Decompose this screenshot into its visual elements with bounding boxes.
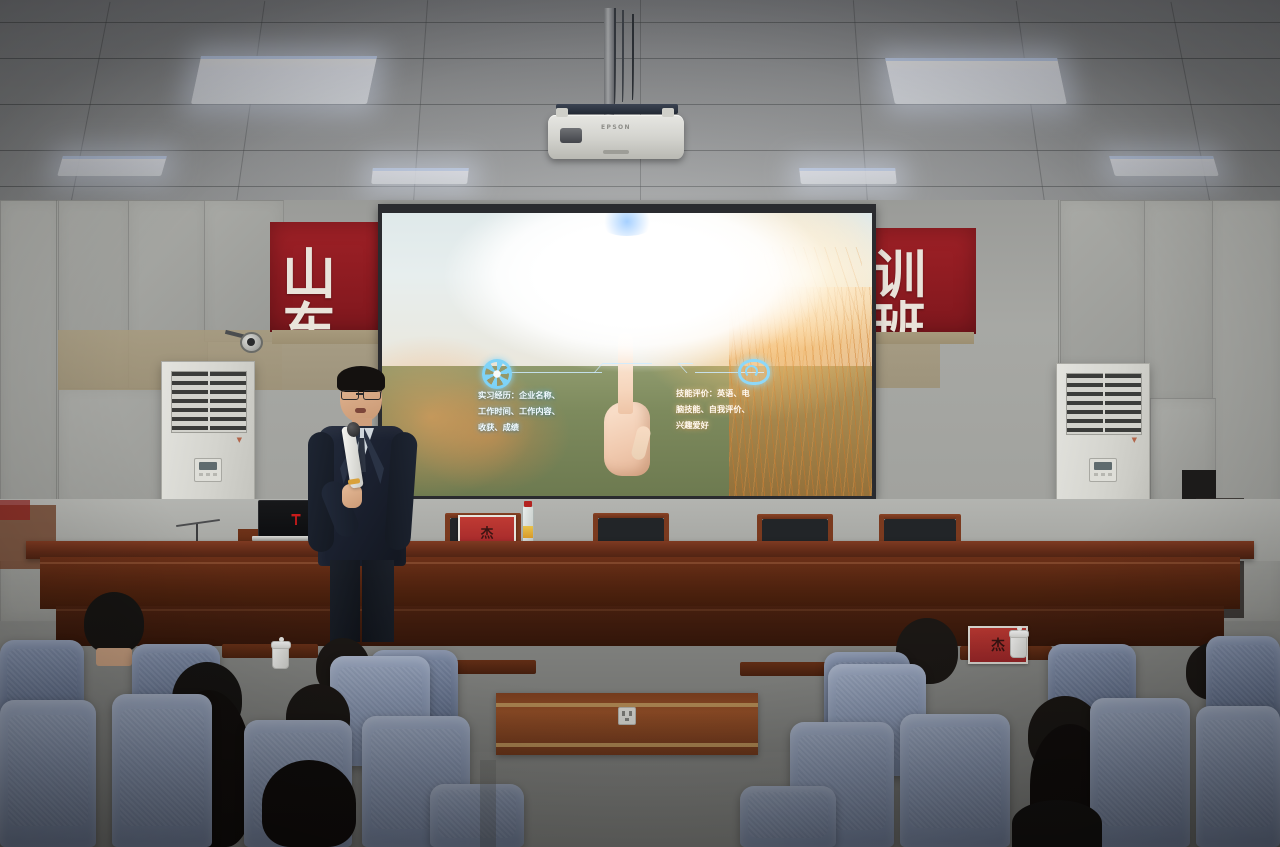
- projector-brand-label: EPSON: [601, 124, 631, 131]
- slide-text-skills: 技能评价：英语、电 脑技能、自我评价、 兴趣爱好: [676, 386, 774, 434]
- ceiling-projector: EPSON: [548, 115, 684, 159]
- camera-lens-icon: [247, 338, 255, 346]
- lecture-hall-photo: 山东 训班 EPSON: [0, 0, 1280, 847]
- nameplate-mark: 杰: [480, 523, 493, 542]
- head-table-lower: [56, 606, 1224, 646]
- cloud-icon: [738, 359, 770, 385]
- stage-chair: [757, 514, 833, 544]
- gear-icon: [482, 359, 512, 389]
- projector-lens: [560, 128, 582, 143]
- audience-seat[interactable]: [112, 694, 212, 847]
- slide-text-internship: 实习经历：企业名称、 工作时间、工作内容、 收获、成绩: [478, 388, 598, 436]
- audience-seat[interactable]: [0, 700, 96, 847]
- audience-desk: [222, 644, 318, 658]
- slide-connector-line: [695, 372, 739, 373]
- stage-chair: [879, 514, 961, 544]
- audience-desk: [452, 660, 536, 674]
- presenter: [300, 352, 422, 642]
- audience-seat[interactable]: [430, 784, 524, 847]
- projector-vent: [603, 150, 629, 154]
- red-welcome-banner: 山东: [270, 222, 386, 332]
- banner-text-left: 山东: [282, 248, 386, 332]
- security-camera: [240, 332, 263, 353]
- projector-mount-plate: [556, 104, 678, 114]
- ac-control-panel[interactable]: [1089, 458, 1117, 482]
- nameplate-mark: 杰: [991, 635, 1005, 655]
- banner-text-right: 训班: [874, 250, 976, 334]
- audience-member-hair: [262, 760, 356, 847]
- audience-seat[interactable]: [1090, 698, 1190, 847]
- ac-brand-mark: ▼: [237, 436, 242, 444]
- projected-presentation-slide: 实习经历：企业名称、 工作时间、工作内容、 收获、成绩 技能评价：英语、电 脑技…: [382, 213, 872, 496]
- water-bottle[interactable]: [522, 505, 534, 545]
- stage-apron-panel: [496, 693, 758, 755]
- audience-desk: [740, 662, 826, 676]
- slide-lens-flare: [382, 213, 872, 496]
- stage-chair: [593, 513, 669, 543]
- audience-member-head: [84, 592, 144, 654]
- red-welcome-banner: 训班: [868, 228, 976, 334]
- head-table-front: [40, 557, 1240, 609]
- slide-connector-line: [612, 363, 652, 364]
- ac-control-panel[interactable]: [194, 458, 222, 482]
- audience-seat[interactable]: [1196, 706, 1280, 847]
- slide-connector-line: [510, 372, 602, 373]
- ac-brand-mark: ▼: [1132, 436, 1137, 444]
- tea-cup[interactable]: [1010, 634, 1027, 658]
- audience-member-head: [1012, 800, 1102, 847]
- suspended-tile-ceiling: [0, 0, 1280, 205]
- wall-power-outlet[interactable]: [618, 707, 636, 725]
- audience-seat[interactable]: [740, 786, 836, 847]
- audience-seat[interactable]: [900, 714, 1010, 847]
- tea-cup[interactable]: [272, 645, 289, 669]
